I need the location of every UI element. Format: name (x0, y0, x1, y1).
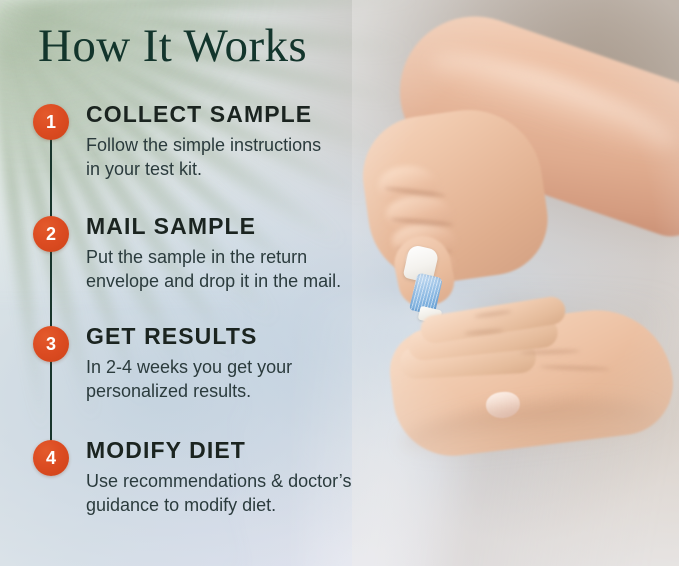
step-body-1: COLLECT SAMPLE Follow the simple instruc… (86, 102, 321, 182)
step-body-3: GET RESULTS In 2-4 weeks you get your pe… (86, 324, 292, 404)
step-number-badge-2: 2 (33, 216, 69, 252)
step-title-3: GET RESULTS (86, 324, 292, 349)
step-description-line: Follow the simple instructions (86, 134, 321, 158)
step-description-3: In 2-4 weeks you get your personalized r… (86, 356, 292, 404)
step-description-line: personalized results. (86, 380, 292, 404)
step-description-2: Put the sample in the return envelope an… (86, 246, 341, 294)
step-description-line: In 2-4 weeks you get your (86, 356, 292, 380)
step-title-2: MAIL SAMPLE (86, 214, 341, 239)
step-body-2: MAIL SAMPLE Put the sample in the return… (86, 214, 341, 294)
step-description-line: Put the sample in the return (86, 246, 341, 270)
step-body-4: MODIFY DIET Use recommendations & doctor… (86, 438, 351, 518)
step-description-line: guidance to modify diet. (86, 494, 351, 518)
step-title-1: COLLECT SAMPLE (86, 102, 321, 127)
step-description-line: envelope and drop it in the mail. (86, 270, 341, 294)
step-number-badge-1: 1 (33, 104, 69, 140)
step-title-4: MODIFY DIET (86, 438, 351, 463)
step-description-4: Use recommendations & doctor’s guidance … (86, 470, 351, 518)
step-description-line: Use recommendations & doctor’s (86, 470, 351, 494)
timeline-connector (50, 124, 52, 462)
step-description-line: in your test kit. (86, 158, 321, 182)
page-title: How It Works (38, 22, 307, 71)
content-layer: How It Works 1 COLLECT SAMPLE Follow the… (0, 0, 679, 566)
how-it-works-poster: How It Works 1 COLLECT SAMPLE Follow the… (0, 0, 679, 566)
step-number-badge-3: 3 (33, 326, 69, 362)
step-number-badge-4: 4 (33, 440, 69, 476)
step-description-1: Follow the simple instructions in your t… (86, 134, 321, 182)
